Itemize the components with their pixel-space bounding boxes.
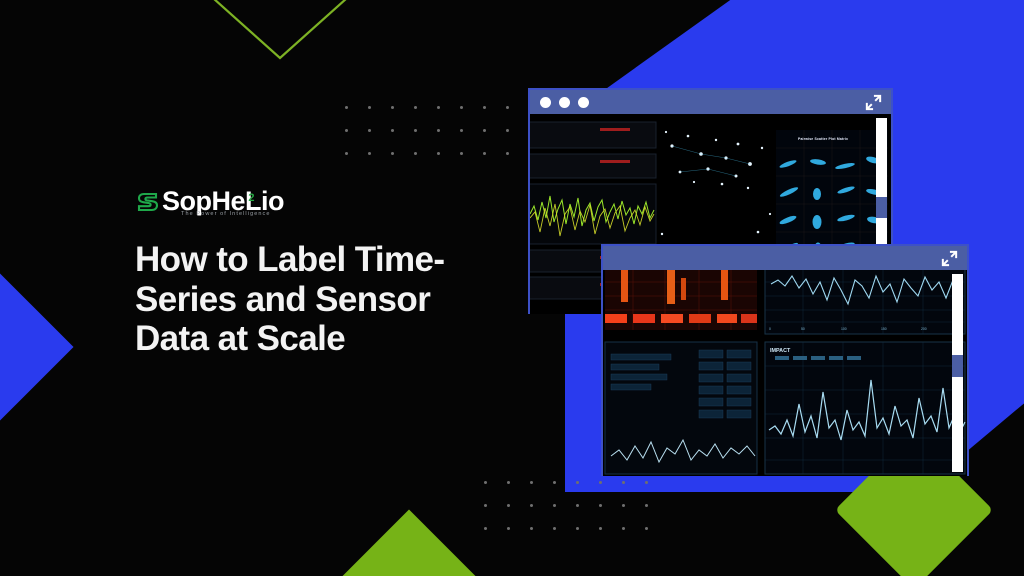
browser-window-sensor-dashboard[interactable]: 050100 150200250: [601, 244, 969, 476]
scrollbar-track-gap[interactable]: [876, 197, 887, 218]
window-scrollbar[interactable]: [952, 274, 963, 472]
sensor-dashboard-visualization: 050100 150200250: [603, 270, 967, 476]
window-content-sensor-dashboard: 050100 150200250: [603, 270, 967, 476]
traffic-light-maximize-icon[interactable]: [578, 97, 589, 108]
scatter-matrix-caption: Pairwise Scatter Plot Matrix: [798, 137, 848, 141]
traffic-light-minimize-icon[interactable]: [559, 97, 570, 108]
window-titlebar[interactable]: [530, 90, 891, 114]
svg-text:100: 100: [841, 327, 847, 331]
scrollbar-thumb-upper[interactable]: [876, 118, 887, 197]
headline-line-3: Data at Scale: [135, 319, 495, 359]
headline-line-2: Series and Sensor: [135, 280, 495, 320]
traffic-light-close-icon[interactable]: [540, 97, 551, 108]
window-titlebar[interactable]: [603, 246, 967, 270]
text-block: SopHeLio 2 The Power of Intelligence How…: [135, 188, 495, 359]
dot-grid-bottom: [484, 481, 648, 530]
scrollbar-thumb-upper[interactable]: [952, 274, 963, 355]
svg-text:50: 50: [801, 327, 805, 331]
sophelio-s-mark-icon: [135, 189, 161, 215]
chevron-top-green-icon: [200, 0, 360, 66]
svg-text:150: 150: [881, 327, 887, 331]
expand-arrows-icon[interactable]: [864, 93, 883, 112]
svg-text:0: 0: [769, 327, 771, 331]
impact-chart-label: IMPACT: [770, 348, 791, 354]
scrollbar-thumb-lower[interactable]: [952, 377, 963, 472]
brand-logo: SopHeLio 2 The Power of Intelligence: [135, 188, 495, 224]
dot-grid-top: [345, 106, 509, 155]
brand-tagline: The Power of Intelligence: [181, 211, 271, 217]
svg-text:200: 200: [921, 327, 927, 331]
brand-name-part1: S: [162, 186, 180, 216]
traffic-lights[interactable]: [540, 97, 589, 108]
page-title: How to Label Time- Series and Sensor Dat…: [135, 240, 495, 359]
diamond-left-blue: [0, 273, 74, 420]
expand-arrows-icon[interactable]: [940, 249, 959, 268]
scrollbar-track-gap[interactable]: [952, 355, 963, 377]
diamond-bottom-green: [326, 510, 493, 576]
brand-superscript: 2: [248, 185, 254, 211]
headline-line-1: How to Label Time-: [135, 240, 495, 280]
poster-canvas: SopHeLio 2 The Power of Intelligence How…: [0, 0, 1024, 576]
